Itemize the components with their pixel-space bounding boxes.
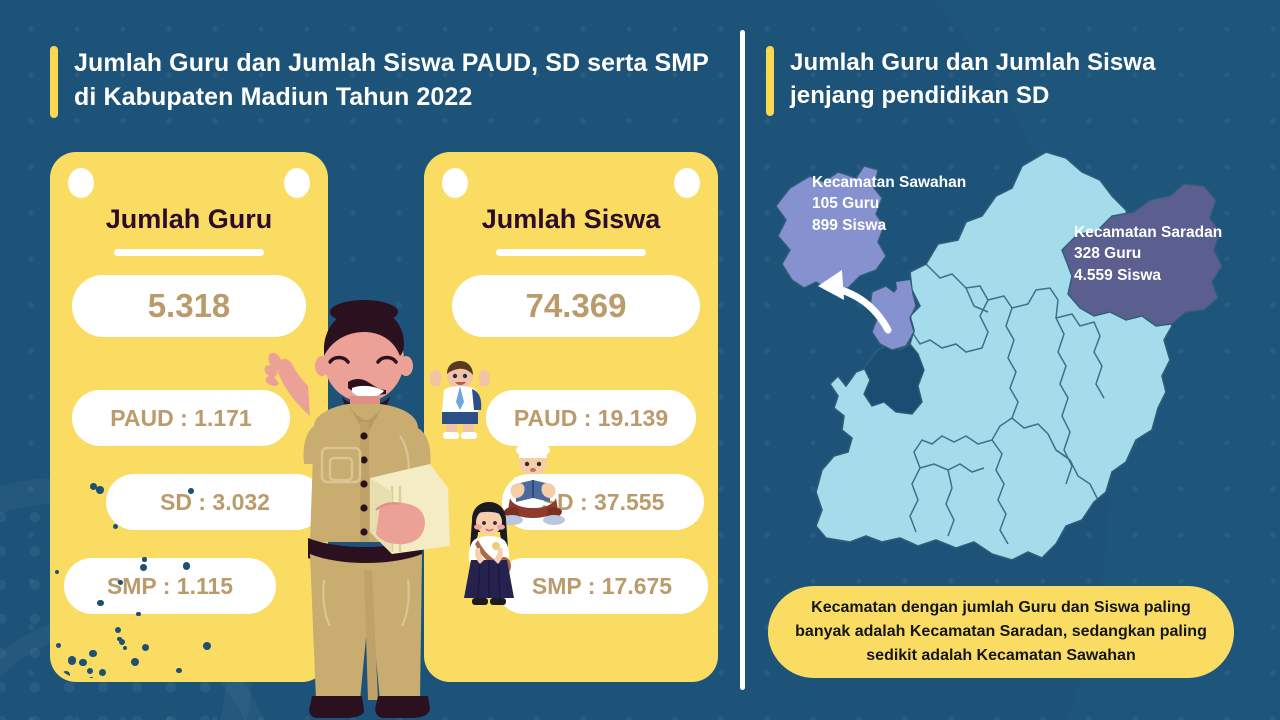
siswa-smp-row: SMP : 17.675 [496,558,708,614]
right-panel-heading: Jumlah Guru dan Jumlah Siswa jenjang pen… [766,46,1236,116]
annotation-student-count: 4.559 Siswa [1074,265,1274,287]
card-title: Jumlah Guru [50,204,328,235]
card-title: Jumlah Siswa [424,204,718,235]
annotation-teacher-count: 105 Guru [812,193,1042,215]
district-sawahan-enclave-tab [896,280,912,294]
siswa-total-value: 74.369 [452,275,700,337]
student-paud-illustration [424,358,496,440]
annotation-district-name: Kecamatan Sawahan [812,172,1042,193]
left-panel-heading: Jumlah Guru dan Jumlah Siswa PAUD, SD se… [50,46,710,118]
student-smp-illustration [454,500,524,608]
card-dot-decoration [54,466,222,678]
summary-note-box: Kecamatan dengan jumlah Guru dan Siswa p… [768,586,1234,678]
annotation-district-name: Kecamatan Saradan [1074,222,1274,243]
annotation-student-count: 899 Siswa [812,215,1042,237]
right-panel-title: Jumlah Guru dan Jumlah Siswa jenjang pen… [790,46,1236,112]
annotation-sawahan: Kecamatan Sawahan 105 Guru 899 Siswa [812,172,1042,237]
card-title-underline [114,249,264,256]
siswa-paud-row: PAUD : 19.139 [486,390,696,446]
heading-accent-bar [766,46,774,116]
card-punch-hole-left [442,168,468,198]
infographic-canvas: Jumlah Guru dan Jumlah Siswa PAUD, SD se… [0,0,1280,720]
summary-note-text: Kecamatan dengan jumlah Guru dan Siswa p… [788,596,1214,668]
left-panel-title: Jumlah Guru dan Jumlah Siswa PAUD, SD se… [74,46,710,114]
card-punch-hole-right [284,168,310,198]
annotation-teacher-count: 328 Guru [1074,243,1274,265]
card-punch-hole-right [674,168,700,198]
annotation-saradan: Kecamatan Saradan 328 Guru 4.559 Siswa [1074,222,1274,287]
district-dark-accent [864,344,924,414]
vertical-divider [740,30,745,690]
card-title-underline [496,249,646,256]
heading-accent-bar [50,46,58,118]
card-punch-hole-left [68,168,94,198]
